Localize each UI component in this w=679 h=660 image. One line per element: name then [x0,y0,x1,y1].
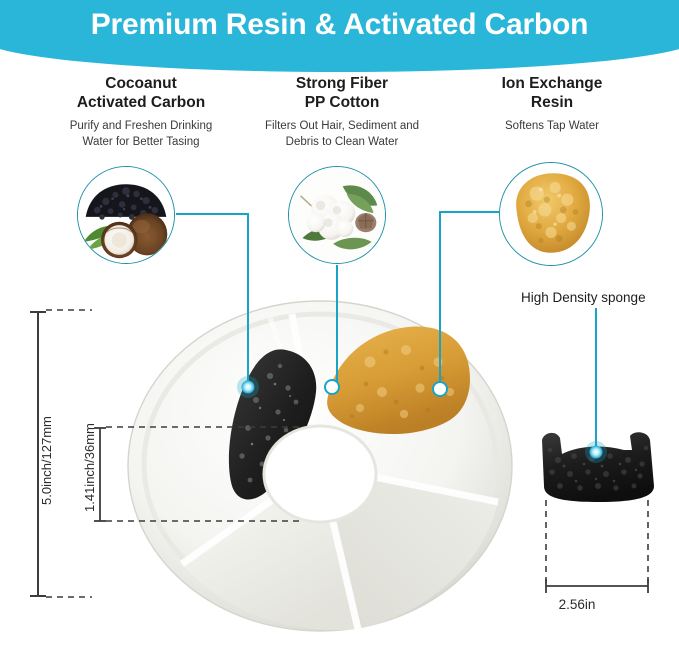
infographic-page: Premium Resin & Activated Carbon Cocoanu… [0,0,679,660]
feature-title: Strong Fiber PP Cotton [242,74,442,112]
feature-column-activated-carbon: Cocoanut Activated Carbon Purify and Fre… [36,74,246,150]
feature-description: Filters Out Hair, Sediment and Debris to… [242,118,442,150]
feature-list: Cocoanut Activated Carbon Purify and Fre… [0,74,679,166]
feature-description: Softens Tap Water [452,118,652,134]
feature-description: Purify and Freshen Drinking Water for Be… [36,118,246,150]
feature-column-ion-resin: Ion Exchange Resin Softens Tap Water [452,74,652,134]
feature-title: Ion Exchange Resin [452,74,652,112]
header-banner: Premium Resin & Activated Carbon [0,0,679,72]
high-density-sponge [536,424,666,514]
disc-outer-dimension-label: 5.0inch/127mm [39,416,54,505]
ion-resin-photo [499,162,603,266]
sponge-callout-label: High Density sponge [521,290,646,305]
feature-title: Cocoanut Activated Carbon [36,74,246,112]
disc-inner-dimension-label: 1.41inch/36mm [82,423,97,512]
coconut-carbon-photo [77,166,175,264]
cotton-boll-photo [288,166,386,264]
page-title: Premium Resin & Activated Carbon [0,8,679,42]
water-filter-disc [120,296,520,636]
sponge-width-dimension-label: 2.56in [559,597,596,612]
feature-column-pp-cotton: Strong Fiber PP Cotton Filters Out Hair,… [242,74,442,150]
